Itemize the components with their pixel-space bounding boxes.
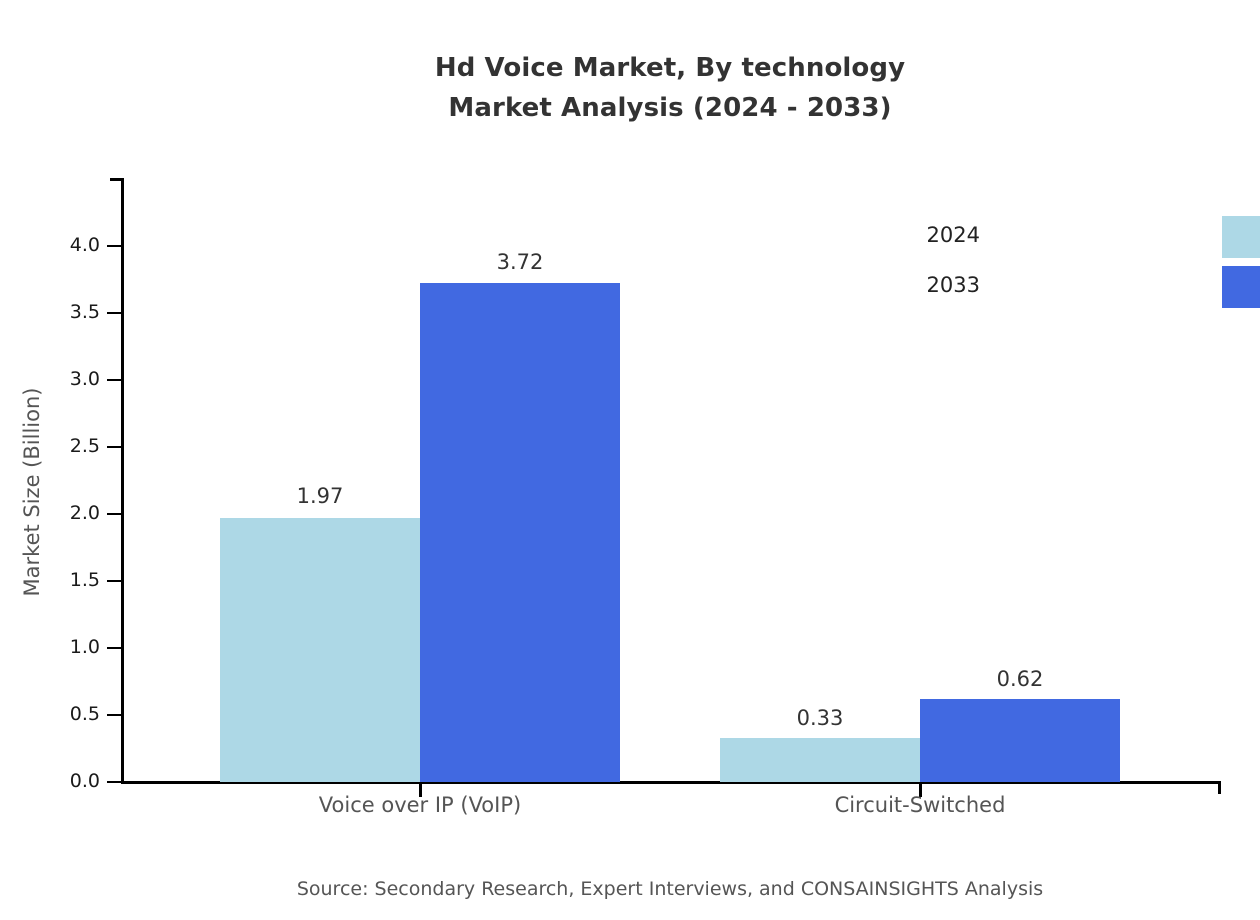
x-tick-label-circuit-switched: Circuit-Switched: [720, 793, 1120, 817]
y-tick-label-2: 1.0: [38, 636, 100, 658]
bar-value-voice-over-ip-2024: 1.97: [220, 484, 420, 508]
x-tick-label-voice-over-ip: Voice over IP (VoIP): [220, 793, 620, 817]
legend-swatch-2024: [1222, 216, 1260, 258]
bar-voice-over-ip-2024[interactable]: [220, 518, 420, 782]
y-tick-mark-2: [107, 647, 121, 649]
bar-value-voice-over-ip-2033: 3.72: [420, 250, 620, 274]
chart-title: Hd Voice Market, By technology Market An…: [0, 48, 1260, 128]
y-tick-label-0: 0.0: [38, 770, 100, 792]
y-tick-label-6: 3.0: [38, 368, 100, 390]
chart-title-line-1: Hd Voice Market, By technology: [0, 48, 1260, 88]
legend-label-2024: 2024: [870, 223, 980, 247]
bar-voice-over-ip-2033[interactable]: [420, 283, 620, 782]
chart-figure: Hd Voice Market, By technology Market An…: [0, 0, 1260, 920]
y-axis-line: [121, 178, 124, 784]
y-tick-mark-6: [107, 379, 121, 381]
y-tick-label-1: 0.5: [38, 703, 100, 725]
y-tick-mark-8: [107, 245, 121, 247]
bar-value-circuit-switched-2033: 0.62: [920, 667, 1120, 691]
y-tick-mark-1: [107, 714, 121, 716]
legend-label-2033: 2033: [870, 273, 980, 297]
y-tick-label-8: 4.0: [38, 234, 100, 256]
source-note: Source: Secondary Research, Expert Inter…: [0, 878, 1260, 900]
y-tick-mark-5: [107, 446, 121, 448]
y-tick-mark-4: [107, 513, 121, 515]
y-tick-mark-7: [107, 312, 121, 314]
legend-swatch-2033: [1222, 266, 1260, 308]
y-axis-top-cap: [110, 178, 124, 181]
y-tick-label-7: 3.5: [38, 301, 100, 323]
y-tick-mark-3: [107, 580, 121, 582]
y-tick-label-5: 2.5: [38, 435, 100, 457]
y-tick-label-4: 2.0: [38, 502, 100, 524]
bar-circuit-switched-2024[interactable]: [720, 738, 920, 782]
bar-value-circuit-switched-2024: 0.33: [720, 706, 920, 730]
bar-circuit-switched-2033[interactable]: [920, 699, 1120, 782]
y-tick-label-3: 1.5: [38, 569, 100, 591]
y-tick-mark-0: [107, 781, 121, 783]
x-axis-right-cap: [1218, 781, 1221, 794]
chart-title-line-2: Market Analysis (2024 - 2033): [0, 88, 1260, 128]
